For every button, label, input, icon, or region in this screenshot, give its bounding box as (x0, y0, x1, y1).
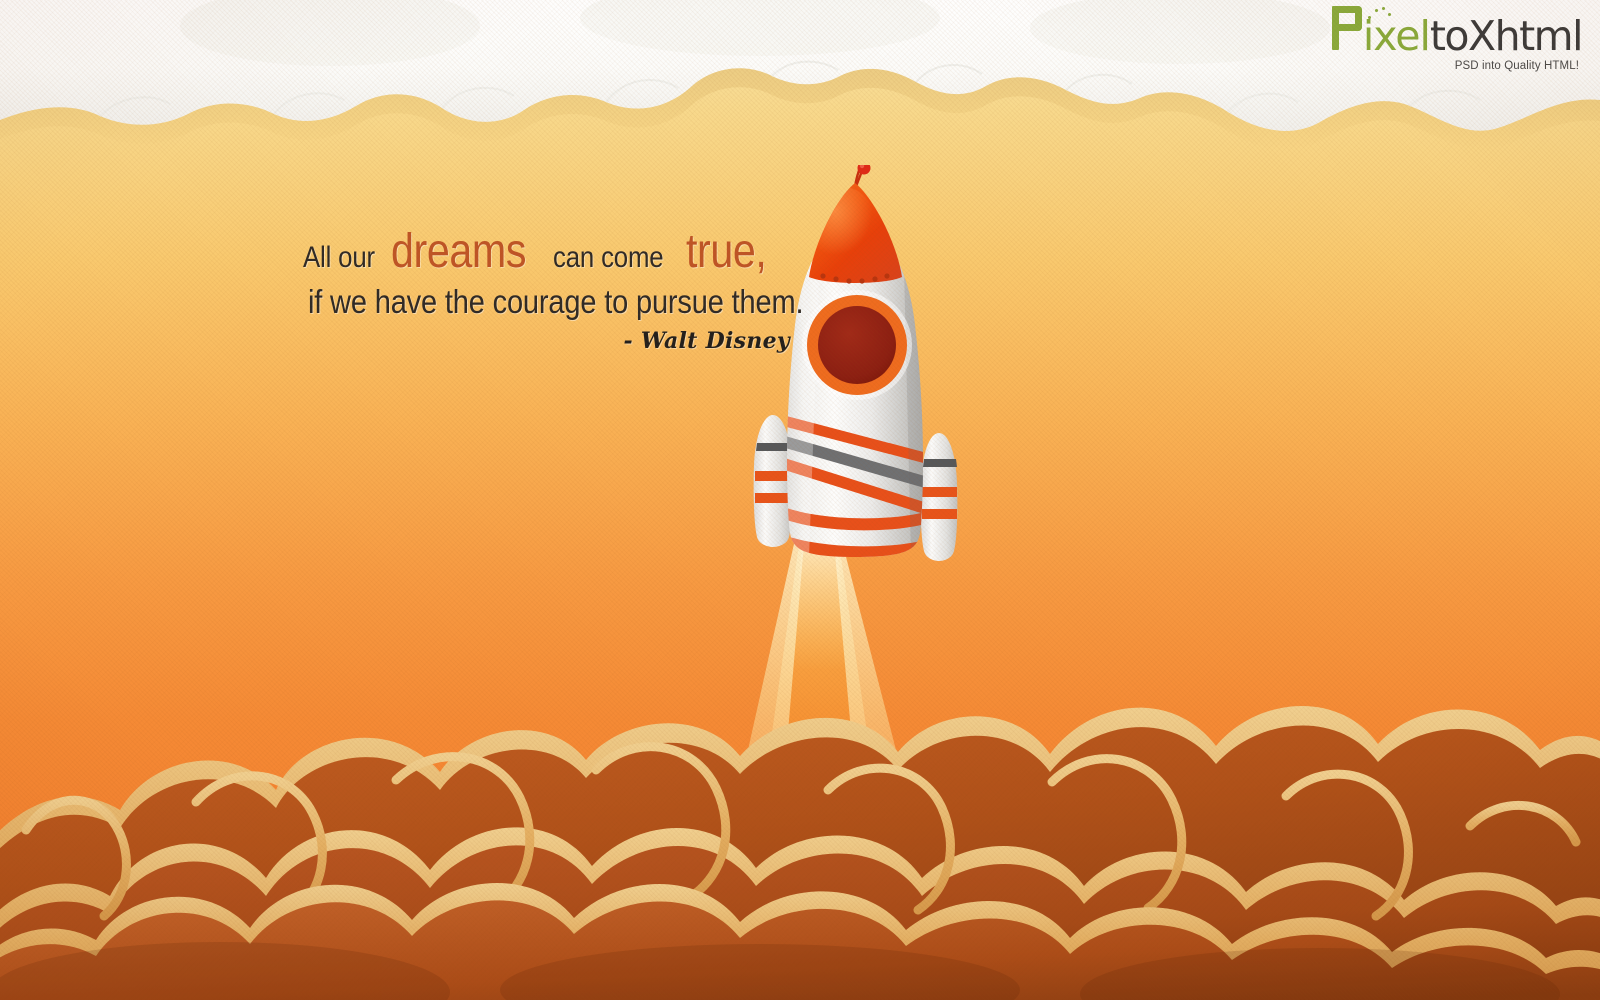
site-logo[interactable]: ixel toXhtml PSD into Quality HTML! (1332, 6, 1582, 72)
quote-word-all-our: All our (303, 243, 375, 273)
logo-text-toxhtml: toXhtml (1430, 16, 1582, 57)
logo-wordmark: ixel toXhtml (1332, 6, 1582, 57)
quote-line-2: if we have the courage to pursue them. (308, 285, 800, 318)
quote-word-true: true, (686, 228, 766, 276)
quote-attribution: - Walt Disney (300, 328, 790, 354)
quote-word-dreams: dreams (391, 228, 526, 276)
wallpaper-canvas: All our dreams can come true, if we have… (0, 0, 1600, 1000)
rocket-nose-cone (809, 183, 902, 284)
logo-text-ixel: ixel (1363, 16, 1430, 57)
logo-p-bowl (1337, 6, 1362, 31)
quote-word-can-come: can come (553, 243, 663, 273)
quote-line-1: All our dreams can come true, (303, 228, 800, 276)
logo-tagline: PSD into Quality HTML! (1332, 60, 1579, 72)
sparkle-dots-icon (1366, 7, 1392, 21)
bottom-cloud-bank (0, 640, 1600, 1000)
quote-block: All our dreams can come true, if we have… (300, 228, 800, 354)
rocket-porthole (802, 290, 912, 400)
logo-p-glyph (1332, 6, 1362, 50)
